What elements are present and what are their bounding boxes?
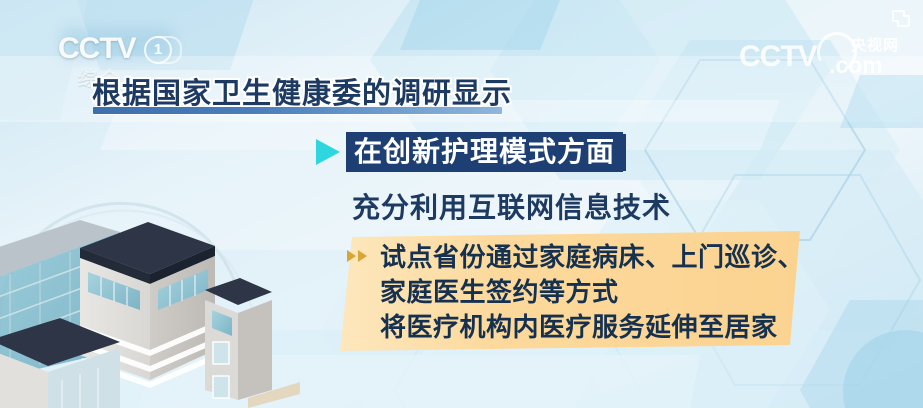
highlight-line-2: 家庭医生签约等方式 (380, 275, 800, 310)
broadcast-screenshot: CCTV 1 综合 CCTV 央视网 .com 根据国家卫生健康委的调研显示 在… (0, 0, 923, 408)
highlight-line-1: 试点省份通过家庭病床、上门巡诊、 (380, 240, 800, 275)
hospital-building-illustration (0, 150, 300, 408)
highlight-text-lines: 试点省份通过家庭病床、上门巡诊、 家庭医生签约等方式 将医疗机构内医疗服务延伸至… (380, 240, 800, 345)
banner-label: 在创新护理模式方面 (354, 138, 615, 166)
sub-headline: 充分利用互联网信息技术 (352, 186, 671, 226)
highlight-line-3: 将医疗机构内医疗服务延伸至居家 (380, 310, 800, 345)
play-triangle-icon (316, 139, 340, 165)
highlight-callout: 试点省份通过家庭病床、上门巡诊、 家庭医生签约等方式 将医疗机构内医疗服务延伸至… (338, 231, 800, 351)
banner-box: 在创新护理模式方面 (346, 132, 623, 172)
headline-underline (93, 107, 502, 114)
banner-end-tick (621, 134, 626, 171)
picture-in-picture-icon (892, 10, 911, 27)
main-headline: 根据国家卫生健康委的调研显示 (92, 70, 512, 112)
double-chevron-right-icon (347, 248, 377, 264)
